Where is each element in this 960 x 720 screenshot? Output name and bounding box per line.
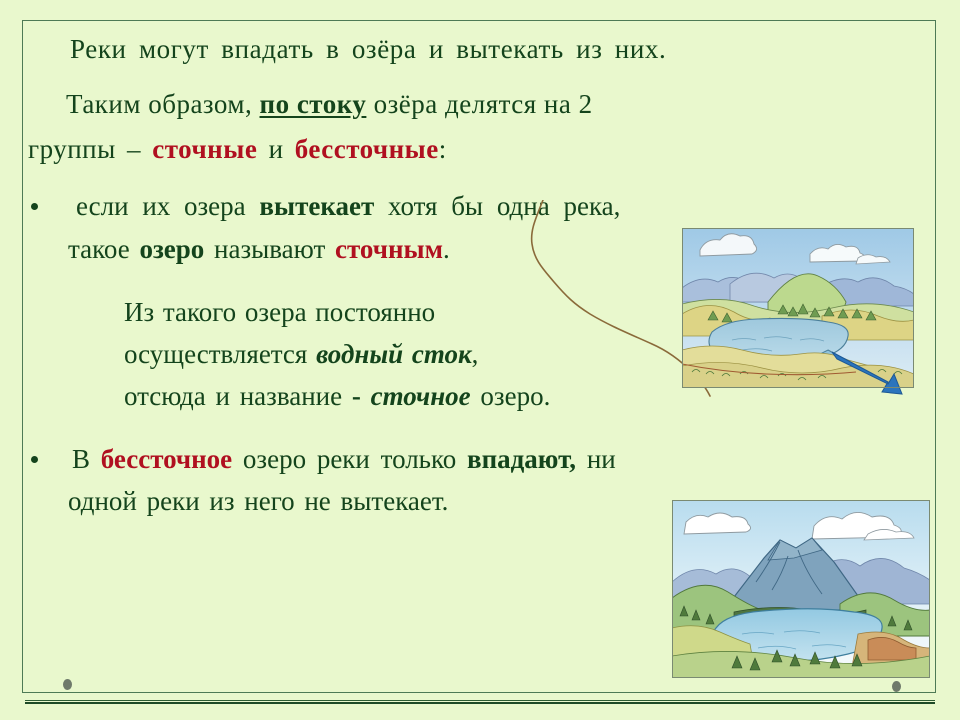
b2l1-red: бессточное xyxy=(101,444,232,474)
b2l1-bold: впадают, xyxy=(467,444,576,474)
bullet-outflow-line-1: если их озера вытекает хотя бы одна река… xyxy=(76,186,620,227)
b2l1-c: ни xyxy=(587,444,616,474)
bullet-endorheic-line-2: одной реки из него не вытекает. xyxy=(68,481,448,522)
groups-colon: : xyxy=(439,134,447,164)
subnote-line-2: осуществляется водный сток, xyxy=(124,334,478,375)
slide-canvas: Реки могут впадать в озёра и вытекать из… xyxy=(0,0,960,720)
sub2-comma: , xyxy=(472,339,479,369)
b1l2-a: такое xyxy=(68,234,130,264)
sub3-b: озеро. xyxy=(480,381,550,411)
term-drainage: сточные xyxy=(152,134,257,164)
b2l1-a: В xyxy=(72,444,90,474)
b1l2-bold: озеро xyxy=(139,234,204,264)
term-drainage-lake: сточное xyxy=(371,381,471,411)
bullet-outflow-line-2: такое озеро называют сточным. xyxy=(68,229,450,270)
term-water-outflow: водный сток xyxy=(316,339,472,369)
bullet-endorheic-line-1: В бессточное озеро реки только впадают, … xyxy=(72,439,616,480)
term-endorheic: бессточные xyxy=(295,134,439,164)
outflow-lake-illustration xyxy=(682,228,914,388)
sub2-a: осуществляется xyxy=(124,339,307,369)
classification-suffix: озёра делятся на 2 xyxy=(374,89,593,119)
sub3-a: отсюда и название xyxy=(124,381,342,411)
sub3-dash: - xyxy=(352,381,361,411)
endorheic-lake-illustration xyxy=(672,500,930,678)
classification-prefix: Таким образом, xyxy=(66,89,252,119)
b1l2-red: сточным xyxy=(335,234,443,264)
b1l1-a: если их озера xyxy=(76,191,246,221)
b1l2-period: . xyxy=(443,234,450,264)
b1l2-b: называют xyxy=(214,234,325,264)
intro-line: Реки могут впадать в озёра и вытекать из… xyxy=(70,29,666,70)
footer-dot-right-icon xyxy=(892,681,901,692)
footer-rule xyxy=(25,700,935,704)
classification-line-2: группы – сточные и бессточные: xyxy=(28,129,447,170)
groups-conjunction: и xyxy=(269,134,284,164)
footer-dot-left-icon xyxy=(63,679,72,690)
subnote-line-1: Из такого озера постоянно xyxy=(124,292,435,333)
groups-prefix: группы – xyxy=(28,134,141,164)
bullet-marker-icon xyxy=(31,203,38,210)
b1l1-b: хотя бы одна река, xyxy=(388,191,620,221)
classification-line-1: Таким образом, по стоку озёра делятся на… xyxy=(66,84,921,125)
subnote-line-3: отсюда и название - сточное озеро. xyxy=(124,376,550,417)
bullet-marker-icon xyxy=(31,456,38,463)
b2l1-b: озеро реки только xyxy=(243,444,456,474)
classification-emphasis: по стоку xyxy=(260,89,367,119)
b1l1-bold: вытекает xyxy=(259,191,374,221)
